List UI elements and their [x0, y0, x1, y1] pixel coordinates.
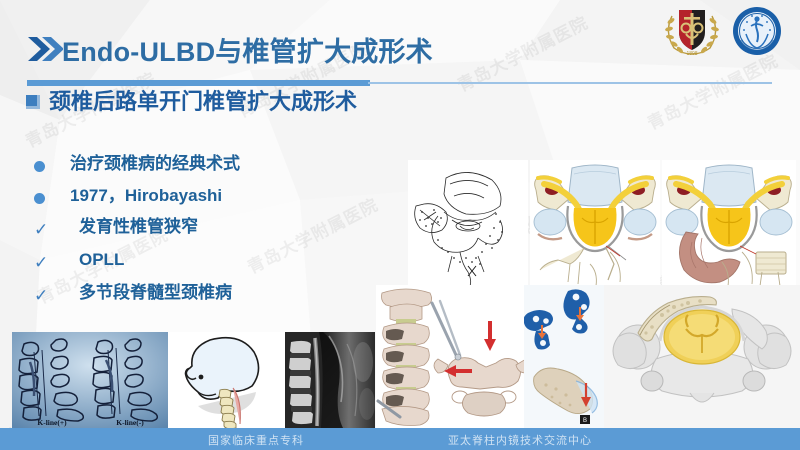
presentation-slide: 青岛大学附属医院 青岛大学附属医院 青岛大学附属医院 青岛大学附属医院 青岛大学… — [0, 0, 800, 450]
kline-negative-label: K-line(-) — [116, 418, 144, 427]
list-item-label: 治疗颈椎病的经典术式 — [70, 155, 240, 174]
shield-year-label: 1898 — [686, 51, 697, 57]
section-subtitle-row: 颈椎后路单开门椎管扩大成形术 — [26, 84, 357, 116]
kline-diagram-image: K-line(+) K-line(-) — [12, 332, 168, 428]
footer-right-label: 亚太脊柱内镜技术交流中心 — [448, 432, 592, 448]
list-item-label: 发育性椎管狭窄 — [70, 218, 198, 237]
vertebra-3d-openplate-image — [604, 285, 800, 428]
bullet-list: 治疗颈椎病的经典术式 1977，Hirobayashi ✓ 发育性椎管狭窄 ✓ … — [30, 155, 390, 317]
lamina-sketch-image — [408, 160, 528, 288]
spine-3d-technique-image — [376, 285, 524, 428]
list-item: ✓ OPLL — [30, 251, 390, 271]
svg-text:B: B — [583, 418, 587, 424]
head-cervical-profile-image — [168, 332, 285, 428]
qingdao-university-shield-logo: 1898 — [662, 4, 722, 63]
title-underline-thin — [368, 82, 772, 84]
double-chevron-icon — [27, 36, 63, 67]
footer-left-label: 国家临床重点专科 — [208, 432, 304, 448]
square-bullet-icon — [26, 95, 40, 109]
section-subtitle: 颈椎后路单开门椎管扩大成形术 — [49, 84, 357, 116]
list-item: ✓ 多节段脊髓型颈椎病 — [30, 284, 390, 304]
bullet-dot-icon — [30, 187, 70, 204]
list-item: 1977，Hirobayashi — [30, 187, 390, 206]
check-icon: ✓ — [30, 251, 70, 271]
kline-positive-label: K-line(+) — [37, 418, 67, 427]
check-icon: ✓ — [30, 218, 70, 238]
list-item: 治疗颈椎病的经典术式 — [30, 155, 390, 174]
logo-group: 1898 — [662, 4, 782, 63]
list-item-label: 多节段脊髓型颈椎病 — [70, 284, 232, 303]
vertebra-crosssection-image-1 — [530, 160, 660, 288]
list-item-label: 1977，Hirobayashi — [70, 187, 222, 206]
vertebra-crosssection-image-2 — [662, 160, 796, 288]
list-item-label: OPLL — [70, 251, 124, 270]
bullet-dot-icon — [30, 155, 70, 172]
list-item: ✓ 发育性椎管狭窄 — [30, 218, 390, 238]
check-icon: ✓ — [30, 284, 70, 304]
page-title: Endo-ULBD与椎管扩大成形术 — [62, 30, 433, 69]
miniplate-implant-image: B — [524, 285, 604, 428]
cervical-mri-image — [285, 332, 375, 428]
slide-footer: 国家临床重点专科 亚太脊柱内镜技术交流中心 — [0, 428, 800, 450]
affiliated-hospital-emblem-logo — [732, 6, 782, 61]
